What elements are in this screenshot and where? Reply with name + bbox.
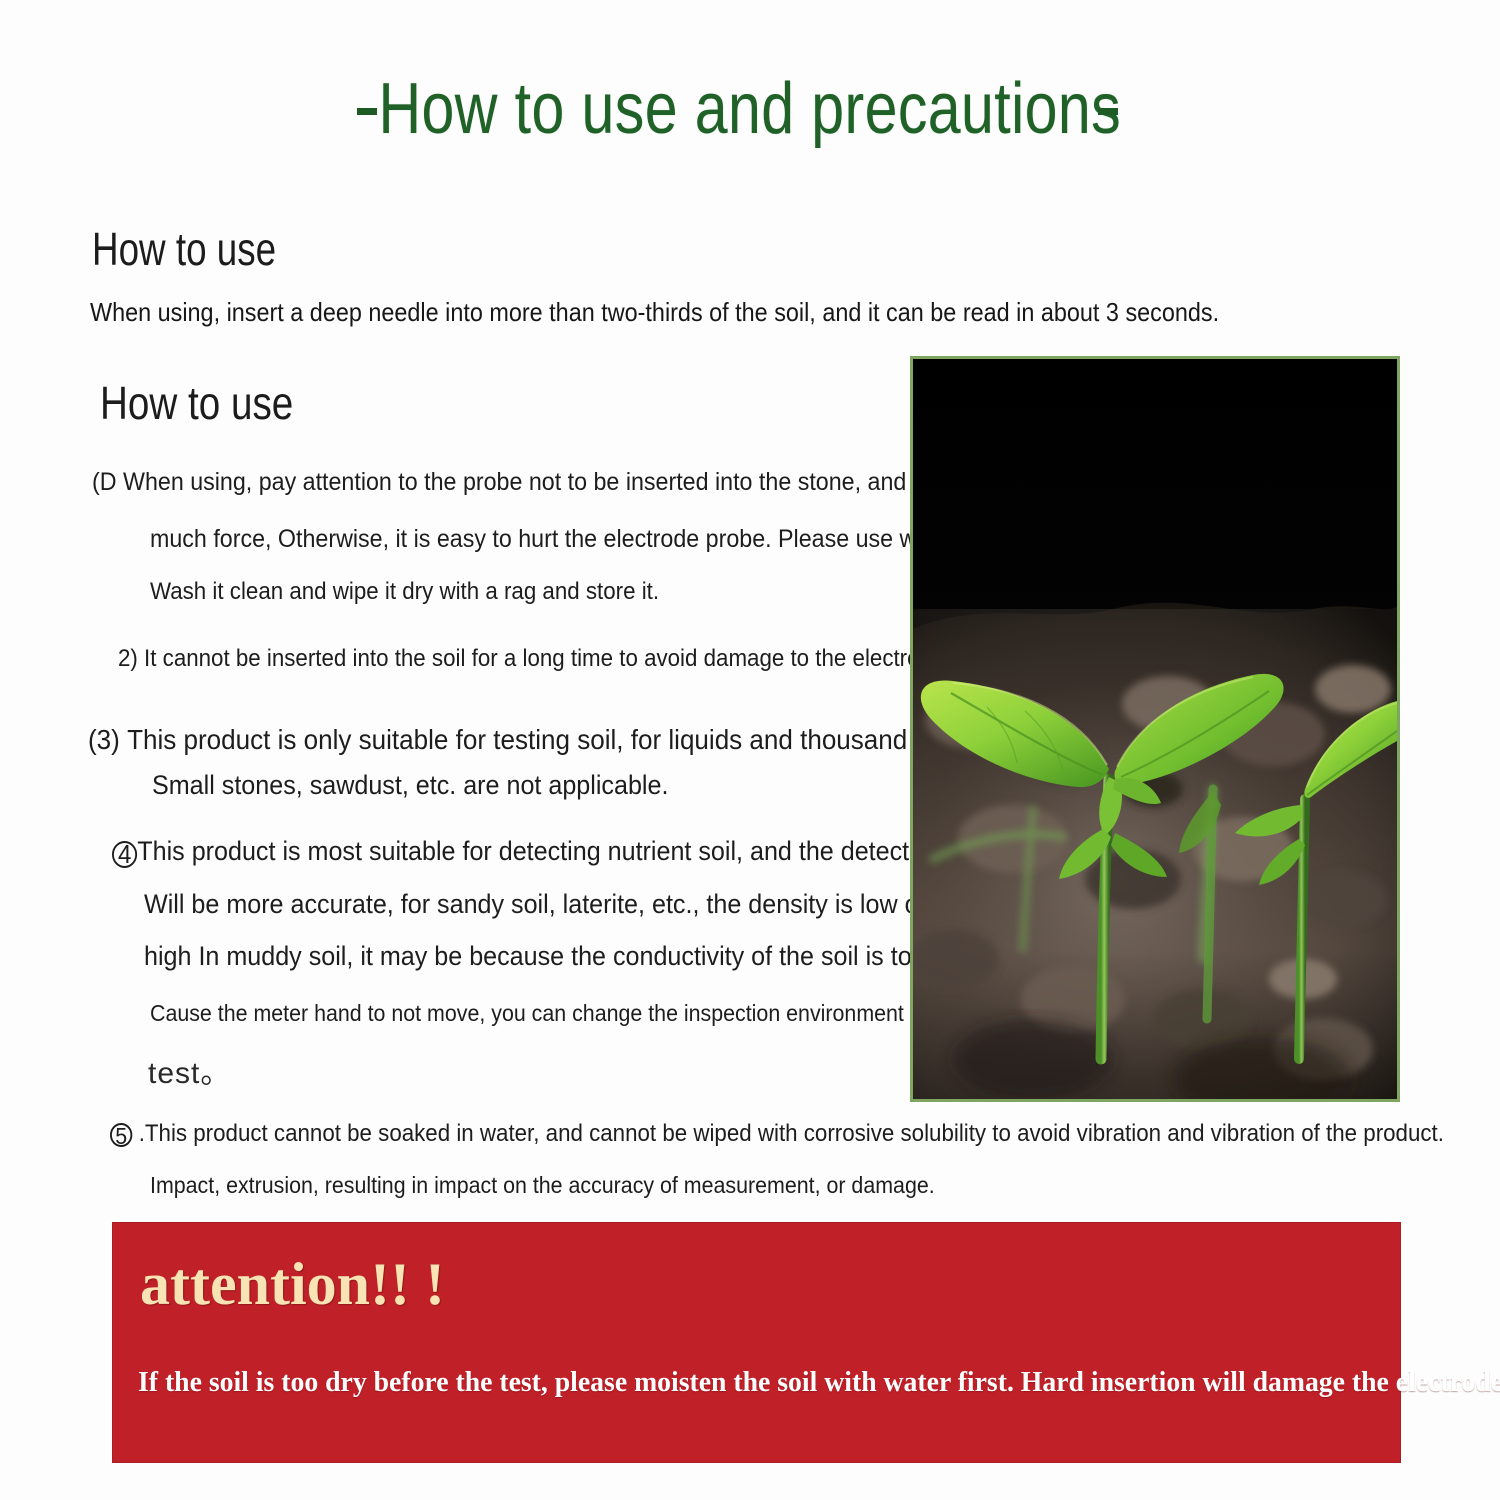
list-item-2-marker: 2) [118, 645, 138, 672]
list-item-3-marker: (3) [88, 724, 120, 755]
section-heading-how-to-use-1: How to use [92, 223, 276, 275]
how-to-use-intro-paragraph: When using, insert a deep needle into mo… [90, 296, 1219, 328]
list-item-3-line-2: Small stones, sawdust, etc. are not appl… [152, 770, 668, 801]
title-dash-right-decoration [1098, 108, 1118, 115]
section-heading-how-to-use-2: How to use [100, 377, 293, 429]
attention-title: attention!! ! [140, 1252, 445, 1316]
seedlings-photo-image [913, 359, 1397, 1099]
seedlings-photo [910, 356, 1400, 1102]
list-item-4-line-5: test。 [148, 1048, 231, 1092]
title-block: How to use and precautions [0, 70, 1500, 148]
attention-banner: attention!! ! If the soil is too dry bef… [112, 1222, 1401, 1463]
list-item-4-line-4: Cause the meter hand to not move, you ca… [150, 1000, 1016, 1027]
attention-body-text: If the soil is too dry before the test, … [138, 1366, 1366, 1400]
title-dash-left-decoration [357, 108, 377, 115]
list-item-5-text: .This product cannot be soaked in water,… [139, 1120, 1444, 1147]
page-title: How to use and precautions [379, 70, 1122, 148]
list-item-5-line-2: Impact, extrusion, resulting in impact o… [150, 1172, 935, 1199]
list-item-3-text: This product is only suitable for testin… [127, 724, 991, 755]
list-item-5-marker: 5 [110, 1123, 132, 1147]
list-item-4-text: This product is most suitable for detect… [137, 836, 1004, 866]
list-item-2-line-1: 2) It cannot be inserted into the soil f… [118, 645, 1014, 673]
list-item-4-marker: 4 [112, 841, 137, 868]
list-item-1-line-3: Wash it clean and wipe it dry with a rag… [150, 578, 659, 606]
list-item-4-line-1: 4This product is most suitable for detec… [112, 836, 1004, 868]
list-item-1-marker: (D [92, 468, 117, 496]
list-item-4-line-3: high In muddy soil, it may be because th… [144, 941, 988, 972]
list-item-3-line-1: (3) This product is only suitable for te… [88, 718, 991, 758]
list-item-5-line-1: 5 .This product cannot be soaked in wate… [110, 1120, 1444, 1148]
document-page: How to use and precautions How to use Wh… [0, 0, 1500, 1500]
list-item-2-text: It cannot be inserted into the soil for … [144, 645, 1014, 672]
list-item-4-line-2: Will be more accurate, for sandy soil, l… [144, 889, 990, 920]
